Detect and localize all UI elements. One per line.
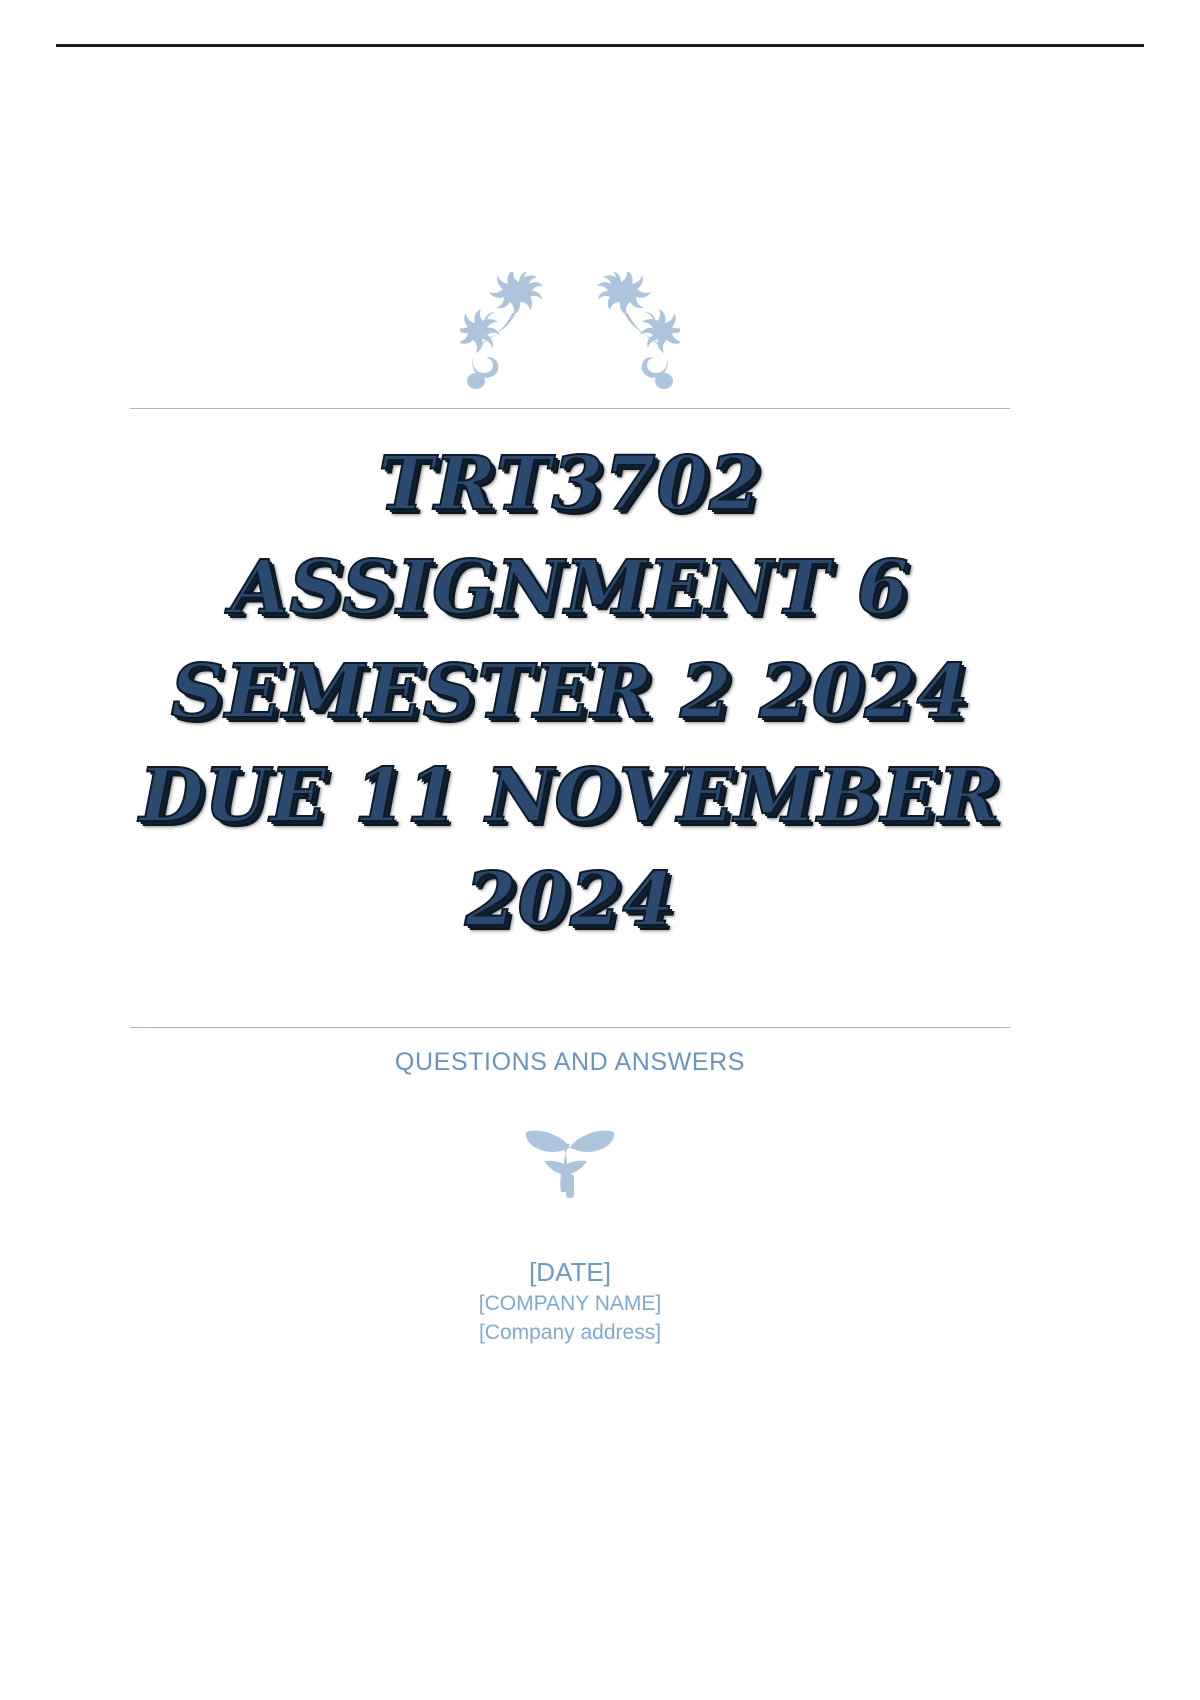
footer-company-address: [Company address] (130, 1318, 1010, 1347)
cover-content-column: TRT3702 ASSIGNMENT 6 SEMESTER 2 2024 DUE… (130, 0, 1010, 1700)
title-line-2: ASSIGNMENT 6 (130, 536, 1010, 640)
floral-flourish-right-icon (570, 272, 680, 392)
title-line-3: SEMESTER 2 2024 (130, 640, 1010, 744)
page-subtitle: QUESTIONS AND ANSWERS (130, 1048, 1010, 1077)
footer-company-name: [COMPANY NAME] (130, 1289, 1010, 1318)
title-line-5: 2024 (130, 848, 1010, 952)
title-line-1: TRT3702 (130, 432, 1010, 536)
cover-page: TRT3702 ASSIGNMENT 6 SEMESTER 2 2024 DUE… (0, 0, 1200, 1700)
divider-below-title (130, 1027, 1010, 1028)
leaf-fleuron-icon (514, 1108, 626, 1205)
page-title: TRT3702 ASSIGNMENT 6 SEMESTER 2 2024 DUE… (130, 432, 1010, 952)
middle-ornament (130, 1108, 1010, 1205)
footer-info-block: [DATE] [COMPANY NAME] [Company address] (130, 1255, 1010, 1347)
footer-date: [DATE] (130, 1255, 1010, 1289)
title-line-4: DUE 11 NOVEMBER (130, 744, 1010, 848)
floral-flourish-left-icon (460, 272, 570, 392)
divider-above-title (130, 408, 1010, 409)
top-ornament (130, 262, 1010, 392)
